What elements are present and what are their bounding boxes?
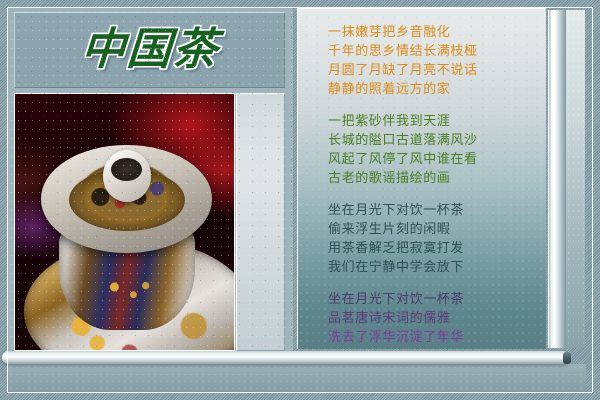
lyric-line: 偷来浮生片刻的闲暇 xyxy=(328,220,540,239)
lyric-line: 我们在时光中回味爱的刹那 xyxy=(328,347,540,349)
lyric-line: 千年的思乡情结长满枝桠 xyxy=(328,42,540,61)
lyrics-panel: 一抹嫩芽把乡音融化 千年的思乡情结长满枝桠 月圆了月缺了月亮不说话 静静的照着远… xyxy=(297,8,546,349)
lyrics-stanza: 一抹嫩芽把乡音融化 千年的思乡情结长满枝桠 月圆了月缺了月亮不说话 静静的照着远… xyxy=(328,23,540,99)
lyric-line: 洗去了浮华沉淀了年华 xyxy=(328,328,540,347)
lyric-line: 用茶香解乏把寂寞打发 xyxy=(328,239,540,258)
lid-knob-hole xyxy=(111,158,142,181)
vertical-track-decoration xyxy=(566,10,585,348)
page-stage: 中国茶 作词：玉镯儿 作曲：陈伟 演唱/词图：刘亚芹 xyxy=(0,0,600,400)
lyrics-stanza: 坐在月光下对饮一杯茶 偷来浮生片刻的闲暇 用茶香解乏把寂寞打发 我们在宁静中学会… xyxy=(328,201,540,277)
lyric-line: 长城的隘口古道落满风沙 xyxy=(328,131,540,150)
lyric-line: 坐在月光下对饮一杯茶 xyxy=(328,290,540,309)
lyrics-container: 一抹嫩芽把乡音融化 千年的思乡情结长满枝桠 月圆了月缺了月亮不说话 静静的照着远… xyxy=(328,23,540,349)
lyric-line: 古老的歌谣描绘的画 xyxy=(328,169,540,188)
lyric-line: 一把紫砂伴我到天涯 xyxy=(328,112,540,131)
bottom-band xyxy=(8,364,586,392)
horizontal-rod-end-cap xyxy=(563,352,571,364)
vertical-tube-highlight xyxy=(551,10,554,348)
left-column: 中国茶 作词：玉镯儿 作曲：陈伟 演唱/词图：刘亚芹 xyxy=(8,8,293,392)
teacup-photo-frame xyxy=(14,93,235,351)
lyric-line: 品茗唐诗宋词的儒雅 xyxy=(328,309,540,328)
lyric-line: 月圆了月缺了月亮不说话 xyxy=(328,61,540,80)
cup-gold-pattern xyxy=(94,273,162,308)
lyrics-stanza: 坐在月光下对饮一杯茶 品茗唐诗宋词的儒雅 洗去了浮华沉淀了年华 我们在时光中回味… xyxy=(328,290,540,349)
lyric-line: 我们在宁静中学会放下 xyxy=(328,258,540,277)
title-plaque: 中国茶 xyxy=(14,12,285,88)
photo-side-panel xyxy=(236,93,285,351)
lyric-line: 风起了风停了风中谁在看 xyxy=(328,150,540,169)
page-title: 中国茶 xyxy=(79,28,220,72)
teacup-photo xyxy=(15,94,234,350)
lyric-line: 一抹嫩芽把乡音融化 xyxy=(328,23,540,42)
horizontal-rod-decoration xyxy=(2,351,569,364)
lyric-line: 静静的照着远方的家 xyxy=(328,80,540,99)
lyric-line: 坐在月光下对饮一杯茶 xyxy=(328,201,540,220)
lyrics-stanza: 一把紫砂伴我到天涯 长城的隘口古道落满风沙 风起了风停了风中谁在看 古老的歌谣描… xyxy=(328,112,540,188)
